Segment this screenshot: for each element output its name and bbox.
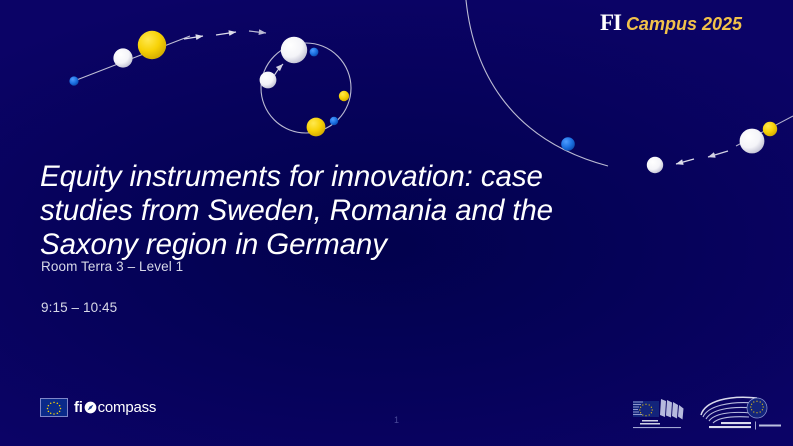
- presentation-slide: FI Campus 2025 Equity instruments for in…: [0, 0, 793, 446]
- european-commission-logo: [631, 393, 687, 433]
- fi-logomark: FI: [600, 11, 621, 34]
- slide-title: Equity instruments for innovation: case …: [40, 160, 640, 261]
- fi-campus-logo: FI Campus 2025: [600, 11, 742, 34]
- eu-flag-icon: [40, 398, 68, 417]
- compass-icon: [84, 401, 97, 414]
- session-time: 9:15 – 10:45: [41, 300, 117, 315]
- european-investment-bank-logo: [695, 393, 787, 435]
- artwork-orbit-circle: [260, 37, 351, 137]
- eu-stars-icon: [41, 399, 67, 416]
- fi-compass-fi-text: fi: [74, 400, 83, 415]
- institutional-logos: [631, 393, 787, 435]
- room-location: Room Terra 3 – Level 1: [41, 259, 183, 274]
- fi-compass-compass-text: compass: [98, 400, 157, 415]
- campus-year-label: Campus 2025: [626, 15, 742, 33]
- artwork-track-left: [69, 31, 266, 86]
- fi-compass-logo: fi compass: [40, 398, 156, 417]
- fi-compass-wordmark: fi compass: [74, 400, 156, 415]
